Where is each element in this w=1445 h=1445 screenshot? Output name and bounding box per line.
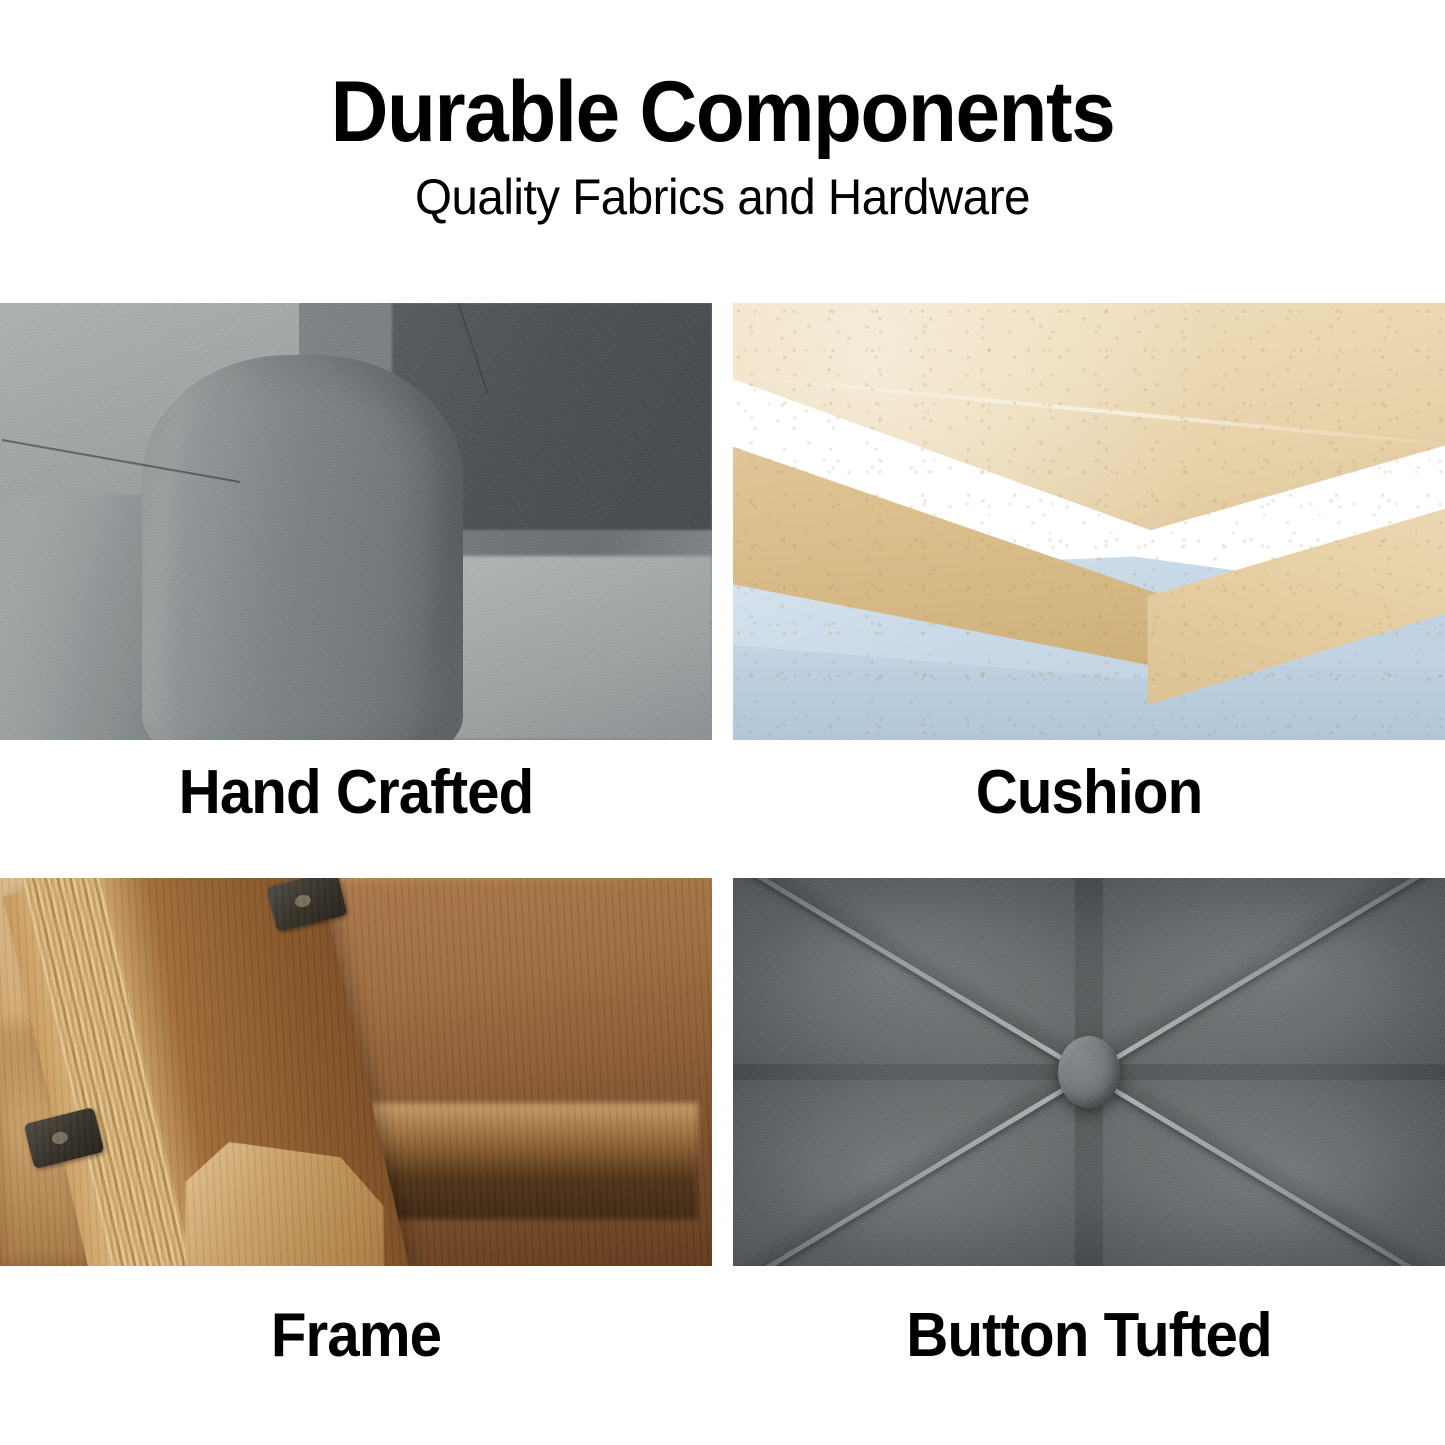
feature-photo-cushion (733, 303, 1445, 740)
infographic-page: Durable Components Quality Fabrics and H… (0, 0, 1445, 1445)
feature-photo-hand-crafted (0, 303, 712, 740)
feature-caption-button-tufted: Button Tufted (754, 1300, 1423, 1372)
sofa-rolled-arm-shape (142, 355, 462, 740)
feature-photo-frame (0, 878, 712, 1266)
wood-frame-illustration (0, 878, 712, 1266)
covered-button (1058, 1036, 1120, 1108)
frame-plywood-slab (370, 1103, 698, 1219)
button-tufting-illustration (733, 878, 1445, 1266)
feature-photo-button-tufted (733, 878, 1445, 1266)
feature-caption-cushion: Cushion (754, 757, 1423, 829)
feature-caption-hand-crafted: Hand Crafted (21, 757, 690, 829)
velvet-sofa-arm-illustration (0, 303, 712, 740)
feature-caption-frame: Frame (21, 1300, 690, 1372)
sofa-seat-shape (441, 556, 712, 740)
feature-grid: Hand Crafted Cushion (0, 0, 1445, 1445)
cushion-foam-illustration (733, 303, 1445, 740)
